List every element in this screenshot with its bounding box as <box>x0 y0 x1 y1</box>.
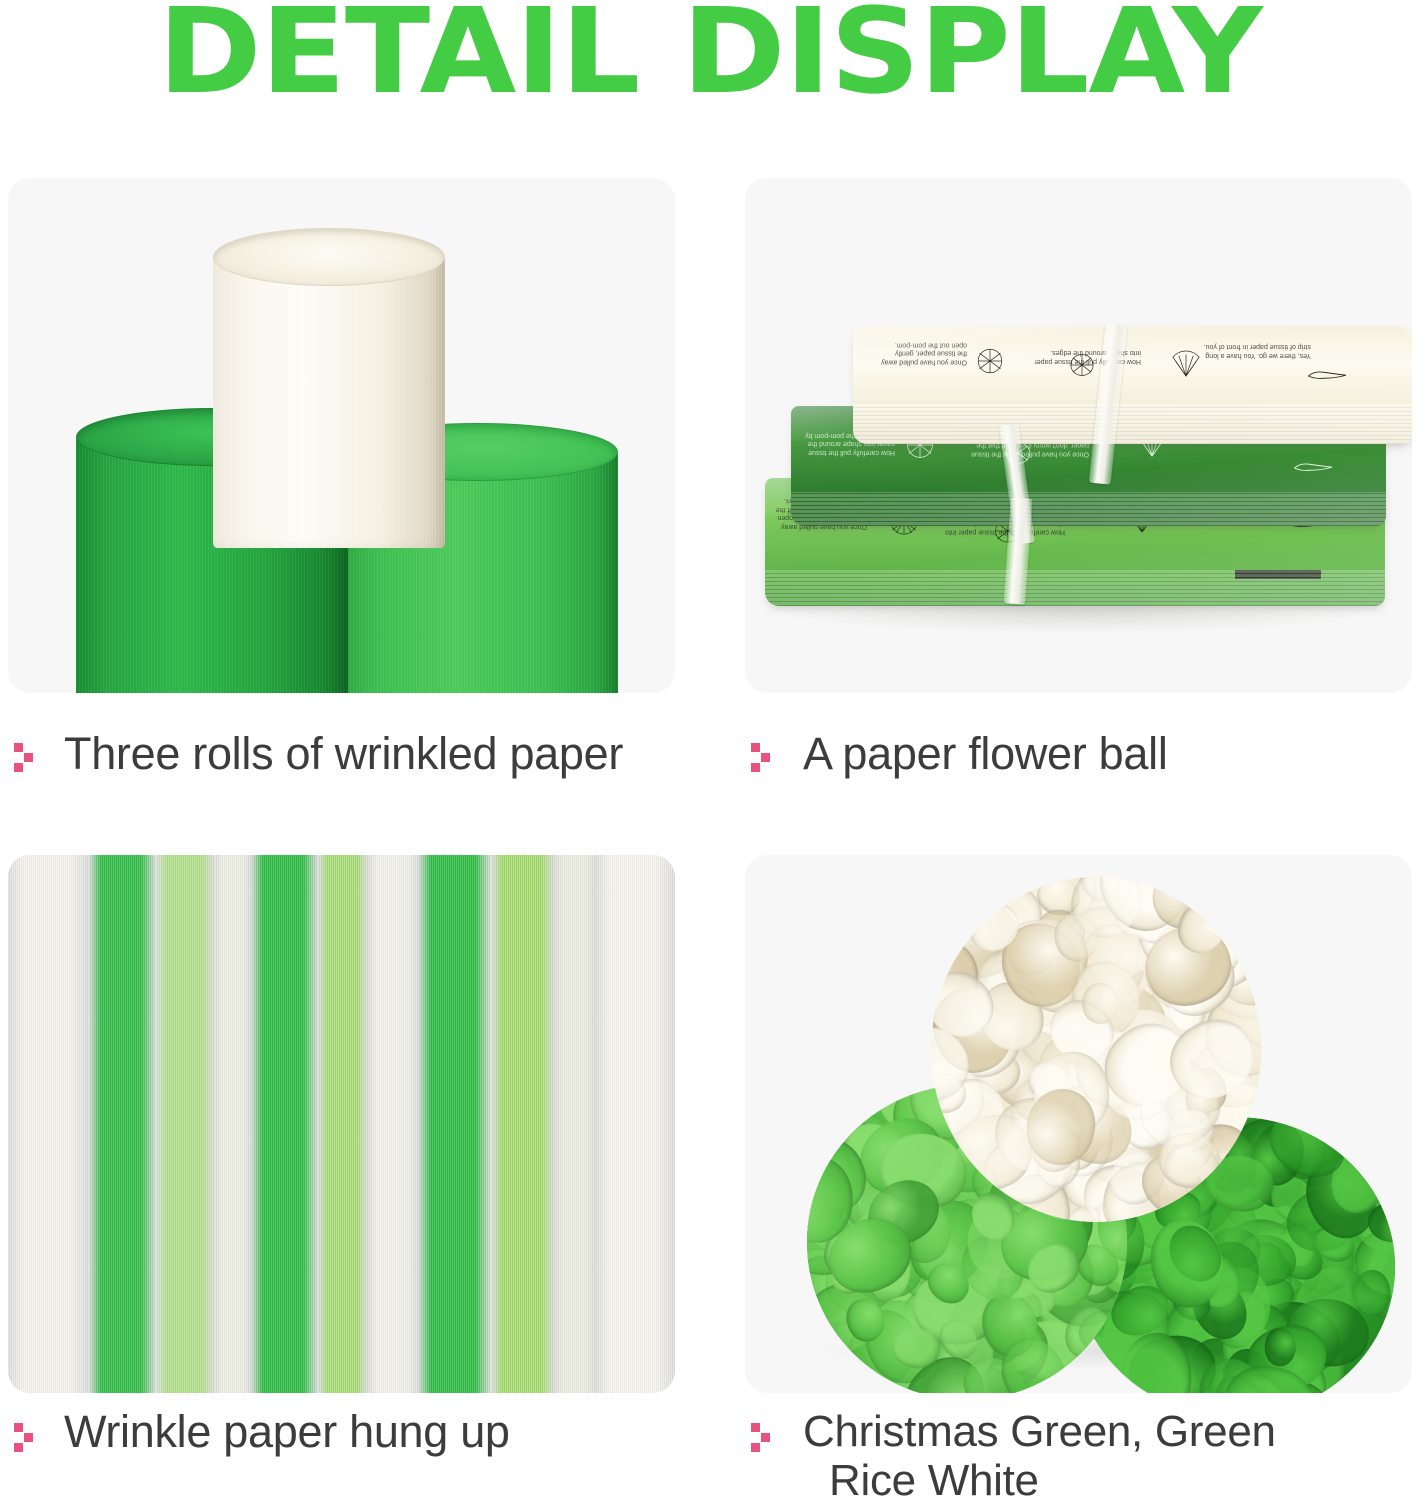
caption-label: Christmas Green, Green Rice White <box>777 1407 1276 1500</box>
streamer-stripe <box>418 855 491 1393</box>
stepped-arrow-bullet-icon <box>14 1423 40 1453</box>
pom-pom-rice-white <box>931 877 1261 1222</box>
streamer-stripe <box>89 855 156 1393</box>
streamer-stripe <box>491 855 554 1393</box>
detail-display-page: DETAIL DISPLAY <box>0 0 1420 1500</box>
crepe-roll-rice-white <box>213 228 445 548</box>
streamer-stripe <box>215 855 252 1393</box>
fan-diagram-icon <box>1165 346 1207 380</box>
caption-line-1: Christmas Green, Green <box>803 1407 1276 1456</box>
photo-flower-ball-packs: Once you have pulled away the tissue pap… <box>745 178 1412 693</box>
page-title: DETAIL DISPLAY <box>158 0 1262 110</box>
caption-wrinkle-paper-hung: Wrinkle paper hung up <box>8 1393 675 1498</box>
pom-diagram-icon <box>1061 348 1103 382</box>
stepped-arrow-bullet-icon <box>751 743 777 773</box>
caption-label: Wrinkle paper hung up <box>40 1407 510 1457</box>
paper-clip-icon <box>1291 462 1337 474</box>
streamer-stripe <box>555 855 595 1393</box>
stepped-arrow-bullet-icon <box>14 743 40 773</box>
streamer-stripe <box>318 855 368 1393</box>
pom-petals <box>931 877 1261 1222</box>
panel-wrinkle-paper-hung[interactable] <box>8 855 675 1393</box>
caption-line-2: Rice White <box>803 1456 1039 1500</box>
pom-diagram-icon <box>969 344 1011 378</box>
caption-pom-pom-colors: Christmas Green, Green Rice White <box>745 1393 1412 1498</box>
detail-grid: Once you have pulled away the tissue pap… <box>8 178 1412 1498</box>
caption-paper-flower-ball: A paper flower ball <box>745 693 1412 855</box>
photo-pom-poms <box>745 855 1412 1393</box>
streamer-stripe <box>156 855 215 1393</box>
panel-paper-flower-ball[interactable]: Once you have pulled away the tissue pap… <box>745 178 1412 693</box>
caption-three-rolls: Three rolls of wrinkled paper <box>8 693 675 855</box>
photo-hanging-streamers <box>8 855 675 1393</box>
paper-clip-icon <box>1305 370 1351 382</box>
streamer-stripe <box>368 855 418 1393</box>
caption-label: Three rolls of wrinkled paper <box>40 729 623 779</box>
streamer-stripe <box>8 855 89 1393</box>
streamer-stripe <box>251 855 318 1393</box>
tissue-pack-rice-white: Once you have pulled away the tissue pap… <box>853 326 1412 444</box>
panel-pom-poms[interactable] <box>745 855 1412 1393</box>
caption-label: A paper flower ball <box>777 729 1168 779</box>
photo-three-rolls <box>8 178 675 693</box>
streamer-stripe <box>595 855 675 1393</box>
panel-three-rolls[interactable] <box>8 178 675 693</box>
stepped-arrow-bullet-icon <box>751 1423 777 1453</box>
header-banner: DETAIL DISPLAY <box>0 0 1420 113</box>
